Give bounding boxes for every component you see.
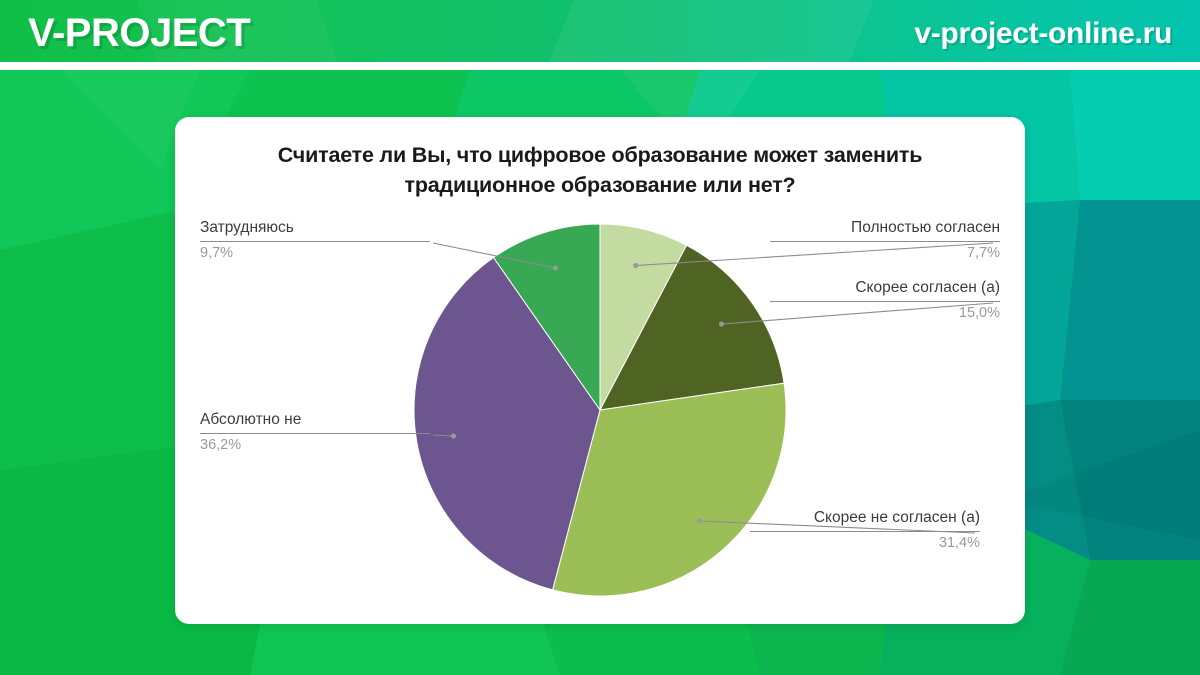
callout-underline [770, 301, 1000, 302]
callout-value: 31,4% [750, 534, 980, 553]
callout-absolyutno-ne: Абсолютно не 36,2% [200, 409, 430, 455]
slide-canvas: V-PROJECT v-project-online.ru Считаете л… [0, 0, 1200, 675]
pie-leader-anchor-dot [553, 265, 558, 270]
callout-value: 36,2% [200, 436, 430, 455]
callout-label: Скорее согласен (а) [770, 277, 1000, 298]
pie-leader-anchor-dot [697, 518, 702, 523]
header-band: V-PROJECT v-project-online.ru [0, 0, 1200, 62]
callout-label: Полностью согласен [770, 217, 1000, 238]
chart-card: Считаете ли Вы, что цифровое образование… [175, 117, 1025, 624]
callout-label: Скорее не согласен (а) [750, 507, 980, 528]
brand-logo-text: V-PROJECT [28, 13, 250, 53]
pie-leader-anchor-dot [633, 263, 638, 268]
callout-zatrudnyayus: Затрудняюсь 9,7% [200, 217, 430, 263]
callout-label: Абсолютно не [200, 409, 430, 430]
callout-underline [200, 433, 430, 434]
callout-skoree-soglasen: Скорее согласен (а) 15,0% [770, 277, 1000, 323]
header-highlight-a [530, 0, 891, 62]
callout-underline [750, 531, 980, 532]
callout-value: 9,7% [200, 244, 430, 263]
callout-underline [200, 241, 430, 242]
header-divider-rule [0, 62, 1200, 70]
callout-value: 15,0% [770, 304, 1000, 323]
callout-underline [770, 241, 1000, 242]
site-url-text: v-project-online.ru [914, 18, 1172, 50]
pie-slice-group [414, 224, 786, 596]
callout-skoree-ne-soglasen: Скорее не согласен (а) 31,4% [750, 507, 980, 553]
pie-leader-anchor-dot [719, 321, 724, 326]
pie-leader-anchor-dot [451, 433, 456, 438]
callout-label: Затрудняюсь [200, 217, 430, 238]
callout-value: 7,7% [770, 244, 1000, 263]
callout-polnostyu-soglasen: Полностью согласен 7,7% [770, 217, 1000, 263]
